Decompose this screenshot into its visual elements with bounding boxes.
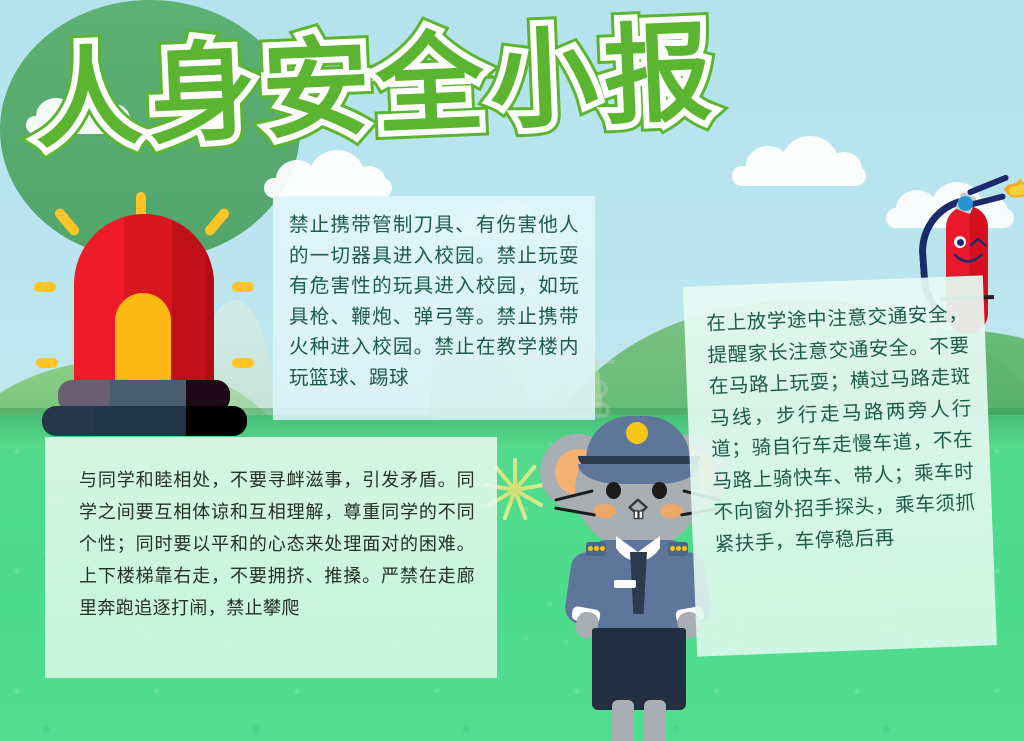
police-cap-badge (626, 422, 648, 444)
mouse-muzzle (615, 496, 661, 526)
mouse-leg-right (644, 700, 666, 741)
panel-classmates: 与同学和睦相处，不要寻衅滋事，引发矛盾。同学之间要互相体谅和互相理解，尊重同学的… (45, 437, 497, 678)
panel-traffic: 在上放学途中注意交通安全，提醒家长注意交通安全。不要在马路上玩耍；横过马路走斑马… (683, 275, 997, 656)
siren-light-icon (20, 192, 270, 442)
siren-ray (232, 358, 254, 368)
extinguisher-smile (953, 252, 983, 268)
siren-ray (232, 282, 254, 292)
extinguisher-wink-eye (970, 236, 986, 248)
mouse-epaulette-right (668, 542, 688, 556)
extinguisher-valve-knob (958, 196, 973, 211)
mouse-cheek-left (593, 504, 616, 518)
cloud-3 (726, 136, 872, 188)
mouse-epaulette-left (586, 542, 606, 556)
siren-ray (36, 358, 58, 368)
panel-weapons-text: 禁止携带管制刀具、有伤害他人的一切器具进入校园。禁止玩耍有危害性的玩具进入校园，… (289, 213, 579, 389)
panel-classmates-text: 与同学和睦相处，不要寻衅滋事，引发矛盾。同学之间要互相体谅和互相理解，尊重同学的… (79, 470, 475, 619)
siren-ray (34, 282, 56, 292)
mouse-name-badge (614, 580, 636, 588)
flame-icon (1002, 174, 1024, 202)
siren-ray (53, 207, 81, 238)
mouse-leg-left (612, 700, 634, 741)
panel-traffic-text: 在上放学途中注意交通安全，提醒家长注意交通安全。不要在马路上玩耍；横过马路走斑马… (706, 302, 976, 555)
siren-base-lower (42, 406, 247, 436)
extinguisher-pupil (957, 239, 964, 246)
mouse-skirt (592, 628, 686, 710)
mouse-cheek-right (660, 504, 683, 518)
poster-canvas: 人身安全小报 人身安全小报 (0, 0, 1024, 741)
panel-weapons: 禁止携带管制刀具、有伤害他人的一切器具进入校园。禁止玩耍有危害性的玩具进入校园，… (273, 196, 595, 420)
siren-bulb (115, 293, 171, 385)
